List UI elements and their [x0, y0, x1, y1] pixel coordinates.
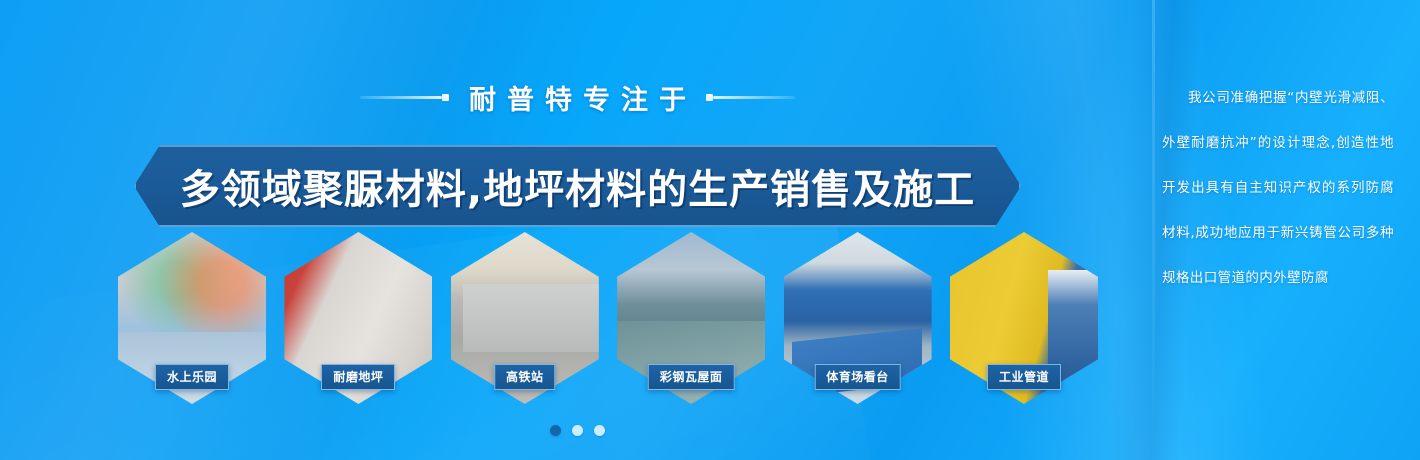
eyebrow-text: 耐普特专注于	[458, 78, 697, 117]
carousel-dots[interactable]	[0, 425, 1155, 436]
hero-banner: 耐普特专注于 多领域聚脲材料,地坪材料的生产销售及施工 水上乐园 耐磨地坪 高铁…	[0, 0, 1420, 460]
tile-caption: 水上乐园	[155, 364, 229, 390]
project-tile[interactable]: 工业管道	[950, 232, 1098, 404]
carousel-dot-3[interactable]	[594, 425, 605, 436]
tile-caption: 体育场看台	[814, 364, 901, 390]
tile-caption: 耐磨地坪	[321, 364, 395, 390]
side-paragraph-text: 我公司准确把握“内壁光滑减阻、外壁耐磨抗冲”的设计理念,创造性地开发出具有自主知…	[1162, 90, 1394, 286]
carousel-dot-2[interactable]	[572, 425, 583, 436]
side-paragraph: 我公司准确把握“内壁光滑减阻、外壁耐磨抗冲”的设计理念,创造性地开发出具有自主知…	[1162, 76, 1394, 301]
project-tile[interactable]: 水上乐园	[118, 232, 266, 404]
background-divider-line	[1152, 0, 1155, 460]
tile-caption: 彩钢瓦屋面	[648, 364, 735, 390]
tile-caption: 工业管道	[987, 364, 1061, 390]
headline-wrap: 多领域聚脲材料,地坪材料的生产销售及施工	[0, 145, 1155, 227]
tile-caption: 高铁站	[494, 364, 556, 390]
project-tile-strip: 水上乐园 耐磨地坪 高铁站 彩钢瓦屋面 体育场看台	[118, 232, 1098, 404]
carousel-dot-1[interactable]	[550, 425, 561, 436]
headline-plate: 多领域聚脲材料,地坪材料的生产销售及施工	[134, 145, 1021, 227]
project-tile[interactable]: 体育场看台	[784, 232, 932, 404]
decorative-rule-left-icon	[360, 96, 442, 99]
project-tile[interactable]: 彩钢瓦屋面	[617, 232, 765, 404]
project-tile[interactable]: 耐磨地坪	[284, 232, 432, 404]
decorative-rule-right-icon	[713, 96, 795, 99]
headline-text: 多领域聚脲材料,地坪材料的生产销售及施工	[180, 157, 975, 215]
eyebrow-row: 耐普特专注于	[0, 78, 1155, 117]
project-tile[interactable]: 高铁站	[451, 232, 599, 404]
